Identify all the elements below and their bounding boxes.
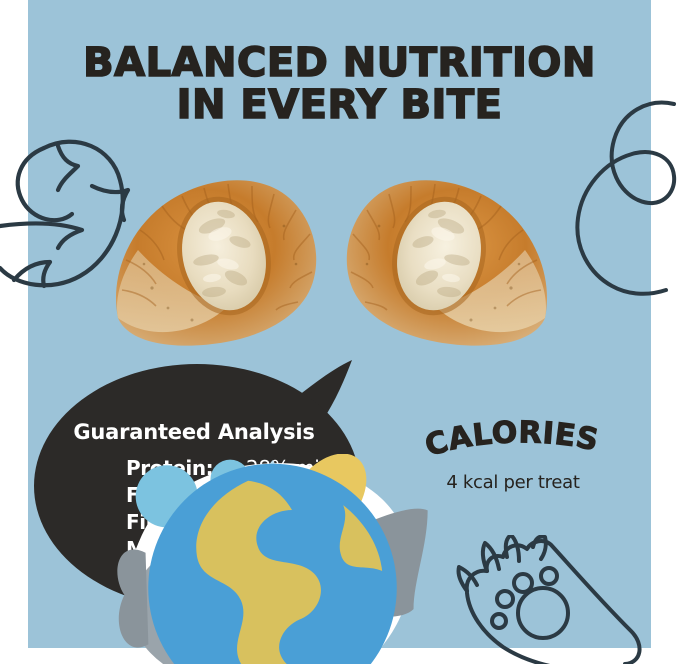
infographic-canvas: BALANCED NUTRITION IN EVERY BITE <box>0 0 679 664</box>
cat-paw-doodle-icon <box>455 535 650 664</box>
headline-line-1: BALANCED NUTRITION <box>28 44 651 82</box>
globe-icon <box>100 564 126 588</box>
calories-title-arc: CALORIES <box>398 418 628 472</box>
calories-block: CALORIES 4 kcal per treat <box>398 418 628 508</box>
swirl-doodle-icon <box>556 96 679 301</box>
svg-text:CALORIES: CALORIES <box>421 418 602 464</box>
guaranteed-analysis-bubble: Guaranteed Analysis Protein: 28% min <box>34 358 379 626</box>
table-row: Ash: 10% max <box>100 562 370 589</box>
calories-subtitle: 4 kcal per treat <box>398 472 628 493</box>
guaranteed-analysis-table: Protein: 28% min <box>100 454 370 589</box>
fish-doodle-icon <box>0 118 150 303</box>
calories-title: CALORIES <box>421 418 602 464</box>
guaranteed-analysis-title: Guaranteed Analysis <box>34 420 354 444</box>
cat-treat-right <box>328 168 563 353</box>
